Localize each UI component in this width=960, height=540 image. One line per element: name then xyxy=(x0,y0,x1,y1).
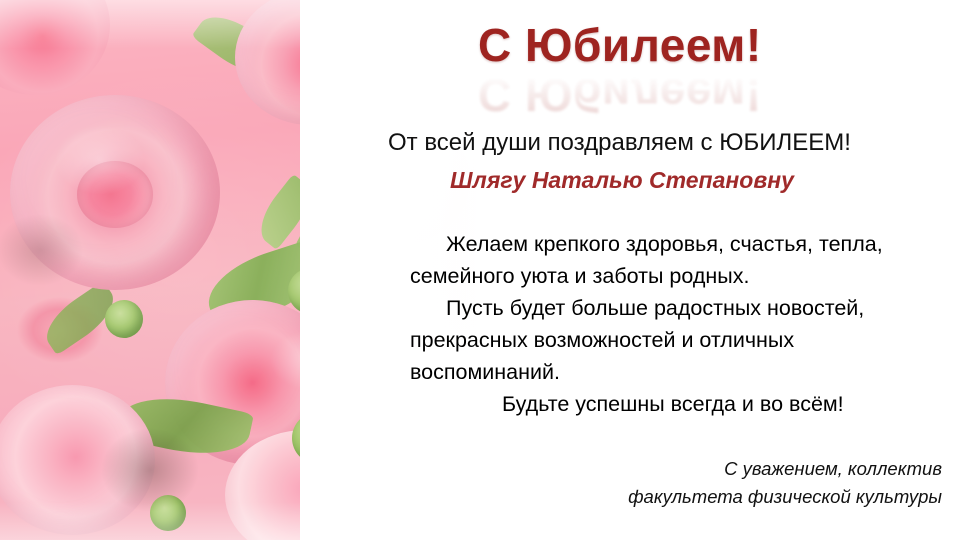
wish-line: семейного уюта и заботы родных. xyxy=(410,260,955,292)
wishes-body: Желаем крепкого здоровья, счастья, тепла… xyxy=(410,228,955,420)
congratulation-line: От всей души поздравляем с ЮБИЛЕЕМ! xyxy=(388,129,851,157)
wish-line: воспоминаний. xyxy=(410,356,955,388)
title-reflection: С Юбилеем! xyxy=(478,72,762,118)
signature-block: С уважением, коллектив факультета физиче… xyxy=(628,455,942,511)
greeting-card: С Юбилеем! С Юбилеем! От всей души поздр… xyxy=(0,0,960,540)
wish-line: прекрасных возможностей и отличных xyxy=(410,324,955,356)
signature-line: С уважением, коллектив xyxy=(628,455,942,483)
wish-line: Желаем крепкого здоровья, счастья, тепла… xyxy=(410,228,955,260)
honoree-name: Шлягу Наталью Степановну xyxy=(450,167,794,194)
page-title: С Юбилеем! xyxy=(478,22,898,68)
wish-line: Пусть будет больше радостных новостей, xyxy=(410,292,955,324)
wish-line: Будьте успешны всегда и во всём! xyxy=(410,388,955,420)
title-block: С Юбилеем! С Юбилеем! xyxy=(478,22,898,127)
signature-line: факультета физической культуры xyxy=(628,483,942,511)
